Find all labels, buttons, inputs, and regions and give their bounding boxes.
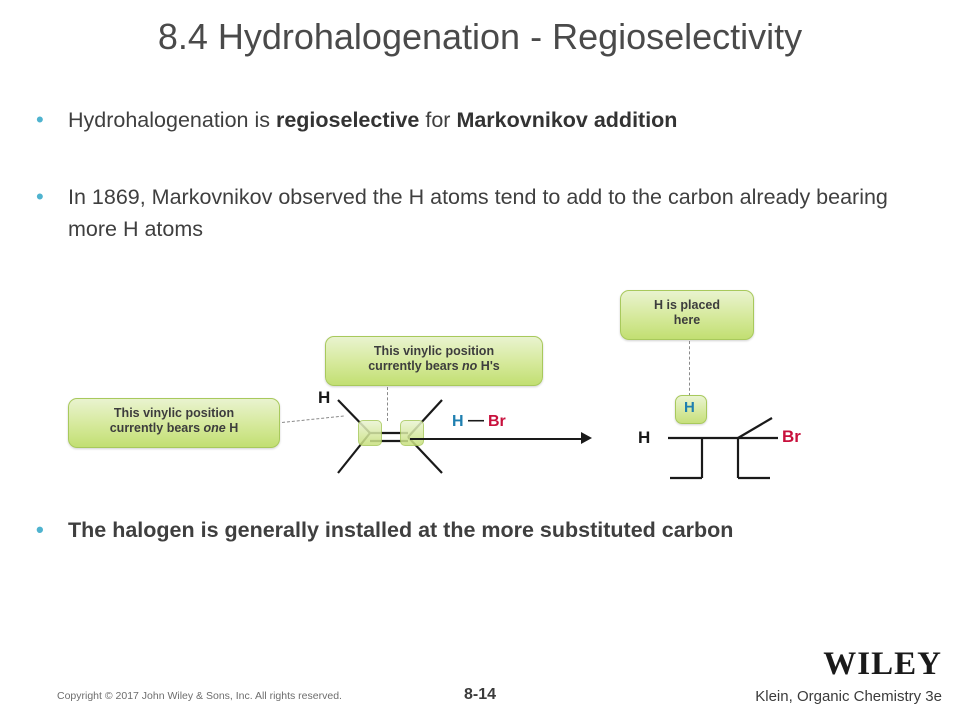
- atom-label-br-product: Br: [782, 427, 801, 447]
- bullet-marker: •: [36, 515, 44, 545]
- bullet-list: • Hydrohalogenation is regioselective fo…: [28, 104, 928, 245]
- reagent-h-label: H: [452, 413, 464, 431]
- callout-left: This vinylic position currently bears on…: [68, 398, 280, 448]
- callout-left-line2c: H: [226, 421, 239, 435]
- page-title: 8.4 Hydrohalogenation - Regioselectivity: [0, 16, 960, 58]
- highlight-vinylic-right: [400, 420, 424, 446]
- reagent-br-label: Br: [488, 413, 506, 431]
- book-attribution: Klein, Organic Chemistry 3e: [755, 688, 942, 705]
- callout-right-line1: H is placed: [654, 298, 720, 312]
- callout-left-line2a: currently bears: [110, 421, 204, 435]
- reagent-bond-dash: —: [468, 412, 484, 430]
- atom-label-h-left: H: [318, 388, 330, 408]
- callout-left-line1: This vinylic position: [114, 406, 234, 420]
- list-item: • The halogen is generally installed at …: [28, 514, 928, 546]
- reaction-arrow-line: [410, 438, 585, 440]
- bullet-3-text: The halogen is generally installed at th…: [68, 518, 733, 542]
- callout-middle: This vinylic position currently bears no…: [325, 336, 543, 386]
- atom-label-h-product: H: [638, 428, 650, 448]
- callout-right-line2: here: [674, 313, 700, 327]
- atom-label-h-added: H: [684, 399, 695, 416]
- bullet-marker: •: [36, 105, 44, 135]
- highlight-vinylic-left: [358, 420, 382, 446]
- callout-middle-line1: This vinylic position: [374, 344, 494, 358]
- publisher-logo: WILEY: [823, 646, 942, 683]
- leader-line-right: [689, 341, 690, 396]
- callout-right: H is placed here: [620, 290, 754, 340]
- bullet-2-text: In 1869, Markovnikov observed the H atom…: [68, 185, 888, 241]
- bullet-1-text: Hydrohalogenation is regioselective for …: [68, 108, 677, 132]
- callout-middle-line2c: H's: [477, 359, 499, 373]
- callout-left-emph: one: [204, 421, 226, 435]
- reaction-arrow-head: [581, 432, 592, 444]
- callout-middle-emph: no: [462, 359, 477, 373]
- callout-middle-line2a: currently bears: [368, 359, 462, 373]
- reaction-figure: This vinylic position currently bears on…: [60, 288, 900, 488]
- bullet-marker: •: [36, 182, 44, 212]
- list-item: • In 1869, Markovnikov observed the H at…: [28, 181, 928, 245]
- slide: 8.4 Hydrohalogenation - Regioselectivity…: [0, 0, 960, 720]
- list-item: • Hydrohalogenation is regioselective fo…: [28, 104, 928, 136]
- alkene-structure: [330, 388, 460, 478]
